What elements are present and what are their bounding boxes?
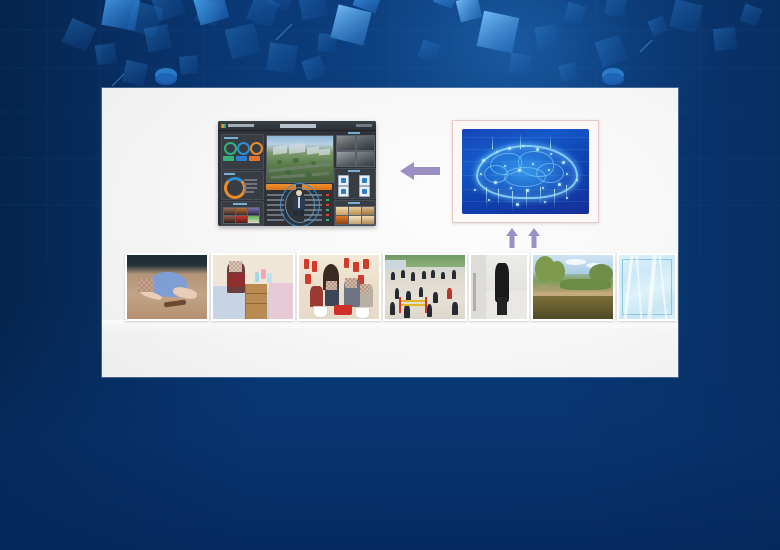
dashboard-alarm-thumb-5[interactable] bbox=[348, 215, 362, 225]
arrow-left-brain-to-dashboard bbox=[400, 162, 440, 180]
dashboard-device-3[interactable] bbox=[338, 186, 349, 197]
face-mosaic bbox=[345, 278, 356, 288]
video-building-4 bbox=[319, 149, 330, 156]
video-tree-1 bbox=[277, 160, 282, 164]
face-mosaic bbox=[360, 284, 370, 293]
dashboard-alarm-thumbs-label bbox=[348, 202, 360, 204]
background-building bbox=[385, 260, 406, 269]
wood-cabinet bbox=[245, 284, 267, 319]
dashboard-avatars-label bbox=[233, 203, 247, 205]
face-mosaic bbox=[326, 281, 336, 291]
dashboard-status-warning[interactable] bbox=[236, 156, 247, 161]
red-decoration bbox=[312, 261, 318, 271]
photo-abstract-cyan[interactable] bbox=[617, 253, 677, 321]
dashboard-alarm-thumb-4[interactable] bbox=[335, 215, 349, 225]
brain-data-stream bbox=[498, 189, 499, 207]
brain-data-stream bbox=[526, 189, 527, 211]
dashboard-donut-legend-4 bbox=[244, 191, 254, 193]
panel-sheen bbox=[102, 320, 678, 332]
video-tree-2 bbox=[293, 158, 299, 163]
white-bowl-1 bbox=[313, 306, 328, 318]
photo-park-lake[interactable] bbox=[531, 253, 615, 321]
dashboard-donut-legend-2 bbox=[244, 183, 257, 185]
dashboard-gauge-3 bbox=[250, 142, 263, 155]
pedestrian bbox=[452, 270, 456, 278]
barrier-post bbox=[399, 297, 401, 312]
video-tree-5 bbox=[305, 172, 312, 177]
video-building-1 bbox=[273, 145, 287, 155]
video-building-3 bbox=[307, 146, 319, 154]
red-decoration bbox=[304, 259, 310, 269]
arrow-up-photos-to-brain-1 bbox=[506, 228, 518, 248]
white-bowl-2 bbox=[355, 307, 370, 319]
brain-data-stream bbox=[492, 135, 493, 149]
dashboard-status-dot bbox=[326, 204, 329, 206]
cloud-1 bbox=[565, 259, 586, 265]
dashboard-device-4[interactable] bbox=[359, 186, 370, 197]
dashboard-device-grid-label bbox=[348, 170, 360, 172]
pedestrian bbox=[441, 272, 445, 280]
pedestrian bbox=[411, 272, 415, 280]
pedestrian bbox=[422, 271, 426, 279]
photo-activity-room[interactable] bbox=[297, 253, 381, 321]
dashboard-gauges-label bbox=[224, 137, 238, 139]
barrier-post bbox=[425, 297, 427, 312]
red-decoration bbox=[363, 259, 369, 269]
photo-fall-detection[interactable] bbox=[125, 253, 209, 321]
video-tree-4 bbox=[285, 170, 292, 175]
arrow-up-photos-to-brain-2 bbox=[528, 228, 540, 248]
bottle-2 bbox=[261, 269, 266, 279]
dashboard-camera-label bbox=[348, 132, 360, 134]
dashboard-status-dot bbox=[326, 194, 329, 196]
floor-plank bbox=[164, 300, 187, 308]
dashboard-donut-chart bbox=[224, 177, 246, 199]
bed-right bbox=[269, 283, 293, 319]
dashboard-device-2[interactable] bbox=[359, 175, 370, 186]
dashboard-avatar-6[interactable] bbox=[247, 215, 260, 224]
elder-vest bbox=[227, 273, 245, 287]
dashboard-video-feed[interactable] bbox=[266, 135, 334, 183]
photo-stairs-walking[interactable] bbox=[469, 253, 529, 321]
brain-data-stream bbox=[520, 133, 521, 149]
lake-water bbox=[533, 296, 613, 319]
dashboard-status-dot bbox=[326, 209, 329, 211]
source-photo-strip bbox=[125, 253, 677, 321]
video-road-2 bbox=[271, 172, 329, 179]
brain-data-stream bbox=[486, 187, 487, 209]
dashboard-camera-1[interactable] bbox=[336, 135, 356, 151]
dashboard-gauge-2 bbox=[237, 142, 250, 155]
dashboard-status-alarm[interactable] bbox=[249, 156, 260, 161]
dashboard-person-avatar bbox=[290, 190, 308, 216]
dashboard-title-left bbox=[228, 124, 254, 127]
dashboard-donut-legend-3 bbox=[244, 187, 257, 189]
bottle-3 bbox=[267, 273, 272, 283]
ai-neural-brain-image bbox=[462, 129, 589, 214]
pedestrian bbox=[391, 272, 395, 280]
willow-tree-2 bbox=[549, 261, 565, 281]
fall-person-leg bbox=[173, 286, 199, 301]
photo-plaza-crowd[interactable] bbox=[383, 253, 467, 321]
dashboard-list-row bbox=[267, 219, 284, 221]
stair-handrail bbox=[473, 273, 476, 311]
pedestrian bbox=[452, 302, 458, 315]
dashboard-logo-icon bbox=[221, 124, 226, 128]
brain-data-stream bbox=[512, 191, 513, 211]
dashboard-camera-4[interactable] bbox=[356, 151, 375, 167]
video-road-1 bbox=[269, 163, 331, 172]
pedestrian bbox=[447, 288, 452, 298]
dashboard-gauge-1 bbox=[224, 142, 237, 155]
pedestrian bbox=[401, 270, 405, 278]
brain-data-stream bbox=[540, 187, 541, 205]
dashboard-title-right bbox=[356, 124, 372, 127]
shrub-row bbox=[560, 279, 611, 289]
yellow-barrier bbox=[399, 300, 426, 302]
yellow-barrier bbox=[399, 304, 426, 306]
face-mosaic bbox=[229, 261, 242, 271]
brain-data-stream bbox=[554, 189, 555, 209]
pedestrian bbox=[431, 270, 435, 278]
pedestrian bbox=[433, 292, 438, 303]
dashboard-alarm-thumb-6[interactable] bbox=[361, 215, 375, 225]
slide-canvas: 智慧养老综合管理平台 bbox=[0, 0, 780, 550]
bottle-1 bbox=[255, 272, 260, 282]
dashboard-camera-3[interactable] bbox=[336, 151, 356, 167]
red-decoration bbox=[353, 262, 359, 272]
pedestrian bbox=[390, 302, 396, 315]
pedestrian bbox=[419, 287, 424, 297]
dashboard-status-dot bbox=[326, 199, 329, 201]
video-building-2 bbox=[289, 143, 305, 154]
face-mosaic bbox=[138, 279, 154, 292]
pedestrian bbox=[404, 305, 410, 318]
walking-man-legs bbox=[497, 297, 507, 315]
video-tree-3 bbox=[311, 161, 316, 165]
brain-data-stream bbox=[550, 135, 551, 148]
red-decoration bbox=[305, 274, 311, 284]
brain-fold-5 bbox=[536, 163, 564, 183]
dashboard-donut-legend-1 bbox=[244, 179, 257, 181]
dashboard-device-1[interactable] bbox=[338, 175, 349, 186]
ai-brain-card[interactable] bbox=[452, 120, 599, 223]
red-tray bbox=[334, 305, 352, 315]
dashboard-status-dot bbox=[326, 214, 329, 216]
seated-person-1 bbox=[310, 286, 323, 308]
pedestrian bbox=[427, 304, 433, 317]
photo-bedroom-elder[interactable] bbox=[211, 253, 295, 321]
dashboard-status-dot bbox=[326, 219, 329, 221]
dashboard-donut-label bbox=[224, 173, 235, 175]
dashboard-status-normal[interactable] bbox=[223, 156, 234, 161]
red-decoration bbox=[344, 258, 350, 268]
dashboard-title-center bbox=[280, 124, 316, 128]
dashboard-camera-2[interactable] bbox=[356, 135, 375, 151]
monitoring-dashboard-screen[interactable]: 智慧养老综合管理平台 bbox=[218, 121, 376, 226]
